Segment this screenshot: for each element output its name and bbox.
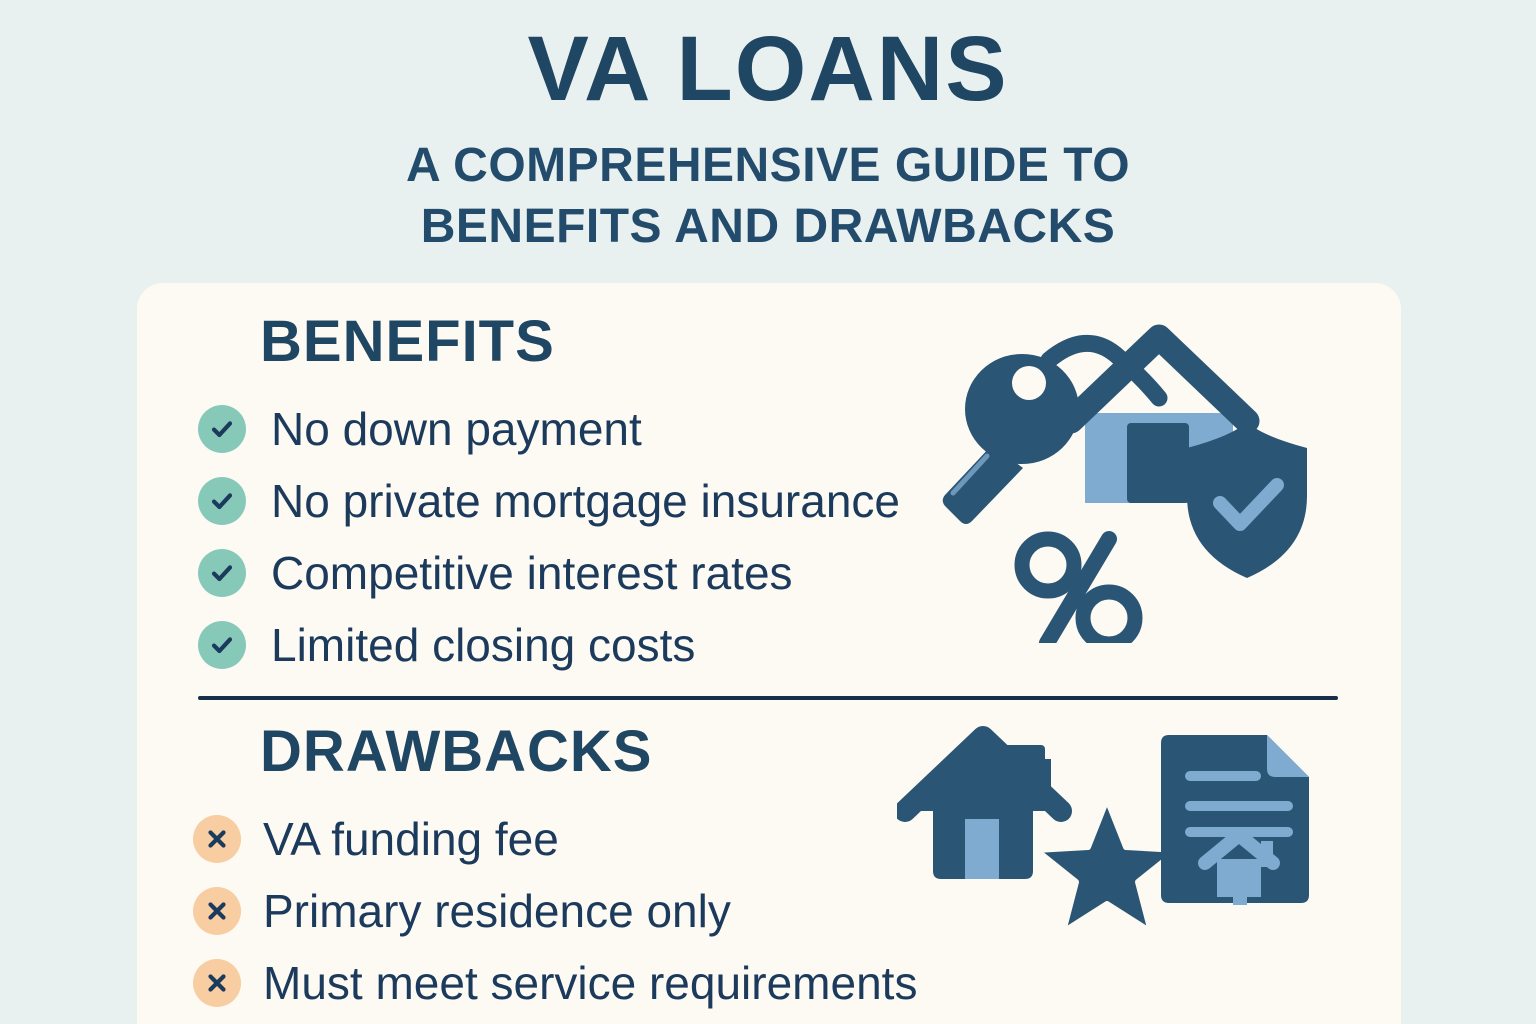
check-circle-icon — [198, 477, 246, 525]
list-item: Primary residence only — [137, 875, 1401, 947]
content-card: BENEFITS No down payment No private mort… — [137, 283, 1401, 1024]
list-item-label: No private mortgage insurance — [271, 478, 900, 524]
check-circle-icon — [198, 621, 246, 669]
drawbacks-heading: DRAWBACKS — [260, 723, 1401, 781]
list-item: No private mortgage insurance — [137, 465, 1401, 537]
x-circle-icon — [193, 887, 241, 935]
page-subtitle-line-2: BENEFITS AND DRAWBACKS — [0, 196, 1536, 257]
list-item-label: VA funding fee — [263, 816, 559, 862]
check-circle-icon — [198, 549, 246, 597]
list-item-label: Primary residence only — [263, 888, 731, 934]
check-circle-icon — [198, 405, 246, 453]
section-divider — [198, 696, 1338, 700]
list-item: Must meet service requirements — [137, 947, 1401, 1019]
drawbacks-section: DRAWBACKS VA funding fee Primary residen… — [137, 723, 1401, 1019]
list-item: VA funding fee — [137, 803, 1401, 875]
x-circle-icon — [193, 815, 241, 863]
drawbacks-list: VA funding fee Primary residence only Mu… — [137, 803, 1401, 1019]
list-item-label: Limited closing costs — [271, 622, 695, 668]
list-item: No down payment — [137, 393, 1401, 465]
benefits-list: No down payment No private mortgage insu… — [137, 393, 1401, 681]
list-item-label: No down payment — [271, 406, 642, 452]
page-subtitle-line-1: A COMPREHENSIVE GUIDE TO — [0, 135, 1536, 196]
benefits-heading: BENEFITS — [260, 313, 1401, 371]
list-item-label: Competitive interest rates — [271, 550, 793, 596]
list-item-label: Must meet service requirements — [263, 960, 917, 1006]
page-title: VA LOANS — [0, 18, 1536, 121]
page-header: VA LOANS A COMPREHENSIVE GUIDE TO BENEFI… — [0, 0, 1536, 258]
benefits-section: BENEFITS No down payment No private mort… — [137, 313, 1401, 681]
list-item: Limited closing costs — [137, 609, 1401, 681]
list-item: Competitive interest rates — [137, 537, 1401, 609]
page-subtitle: A COMPREHENSIVE GUIDE TO BENEFITS AND DR… — [0, 135, 1536, 258]
x-circle-icon — [193, 959, 241, 1007]
